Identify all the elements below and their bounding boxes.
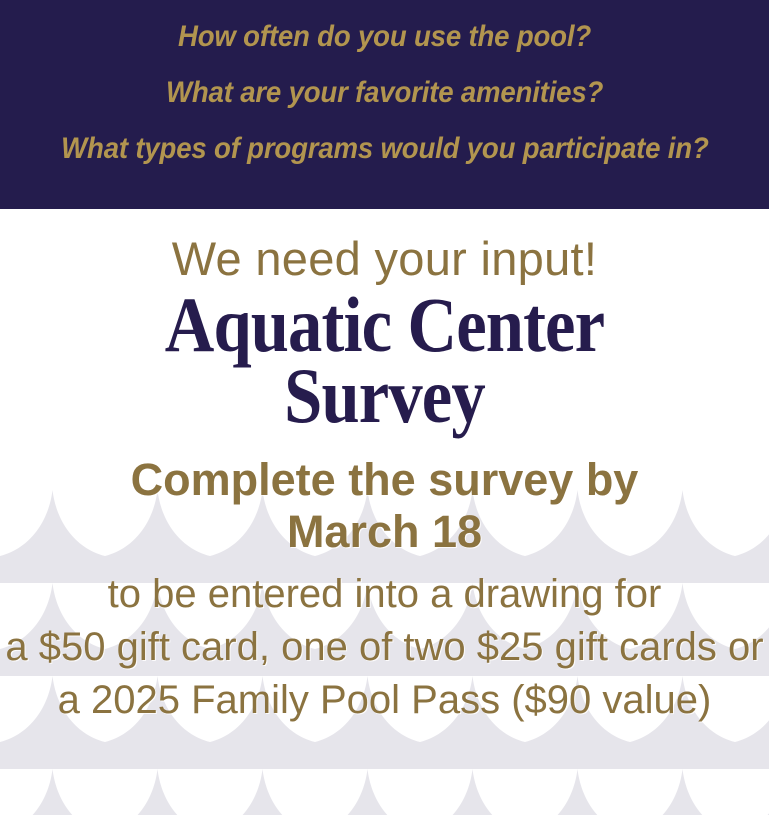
cta-deadline-line-1: Complete the survey by [0,456,769,505]
header-band: How often do you use the pool? What are … [0,0,769,209]
cta-detail-line-3: a 2025 Family Pool Pass ($90 value) [0,675,769,726]
cta-detail-line-2: a $50 gift card, one of two $25 gift car… [0,622,769,673]
cta-deadline-date: March 18 [0,508,769,557]
cta-detail-line-1: to be entered into a drawing for [0,569,769,620]
call-to-action-block: Complete the survey by March 18 to be en… [0,456,769,727]
main-content: We need your input! Aquatic Center Surve… [0,209,769,815]
header-question-1: How often do you use the pool? [178,22,591,52]
page-title: Aquatic Center Survey [0,288,769,434]
header-question-2: What are your favorite amenities? [166,78,603,108]
header-question-3: What types of programs would you partici… [61,134,708,164]
subheading-need-input: We need your input! [0,209,769,282]
aquatic-center-survey-poster: How often do you use the pool? What are … [0,0,769,815]
page-title-line-2: Survey [46,359,723,434]
